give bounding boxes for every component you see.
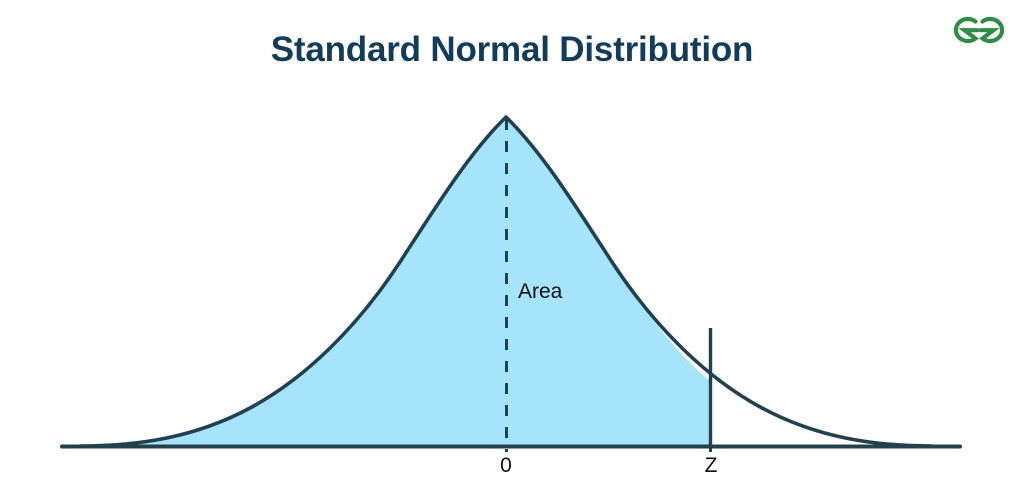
chart-canvas: Standard Normal Distribution Area 0 Z — [0, 0, 1024, 491]
area-label: Area — [518, 278, 562, 306]
x-tick-label-zero: 0 — [500, 452, 512, 480]
shaded-area-region — [82, 117, 710, 446]
normal-distribution-plot — [0, 0, 1024, 491]
x-tick-label-z: Z — [705, 452, 718, 480]
